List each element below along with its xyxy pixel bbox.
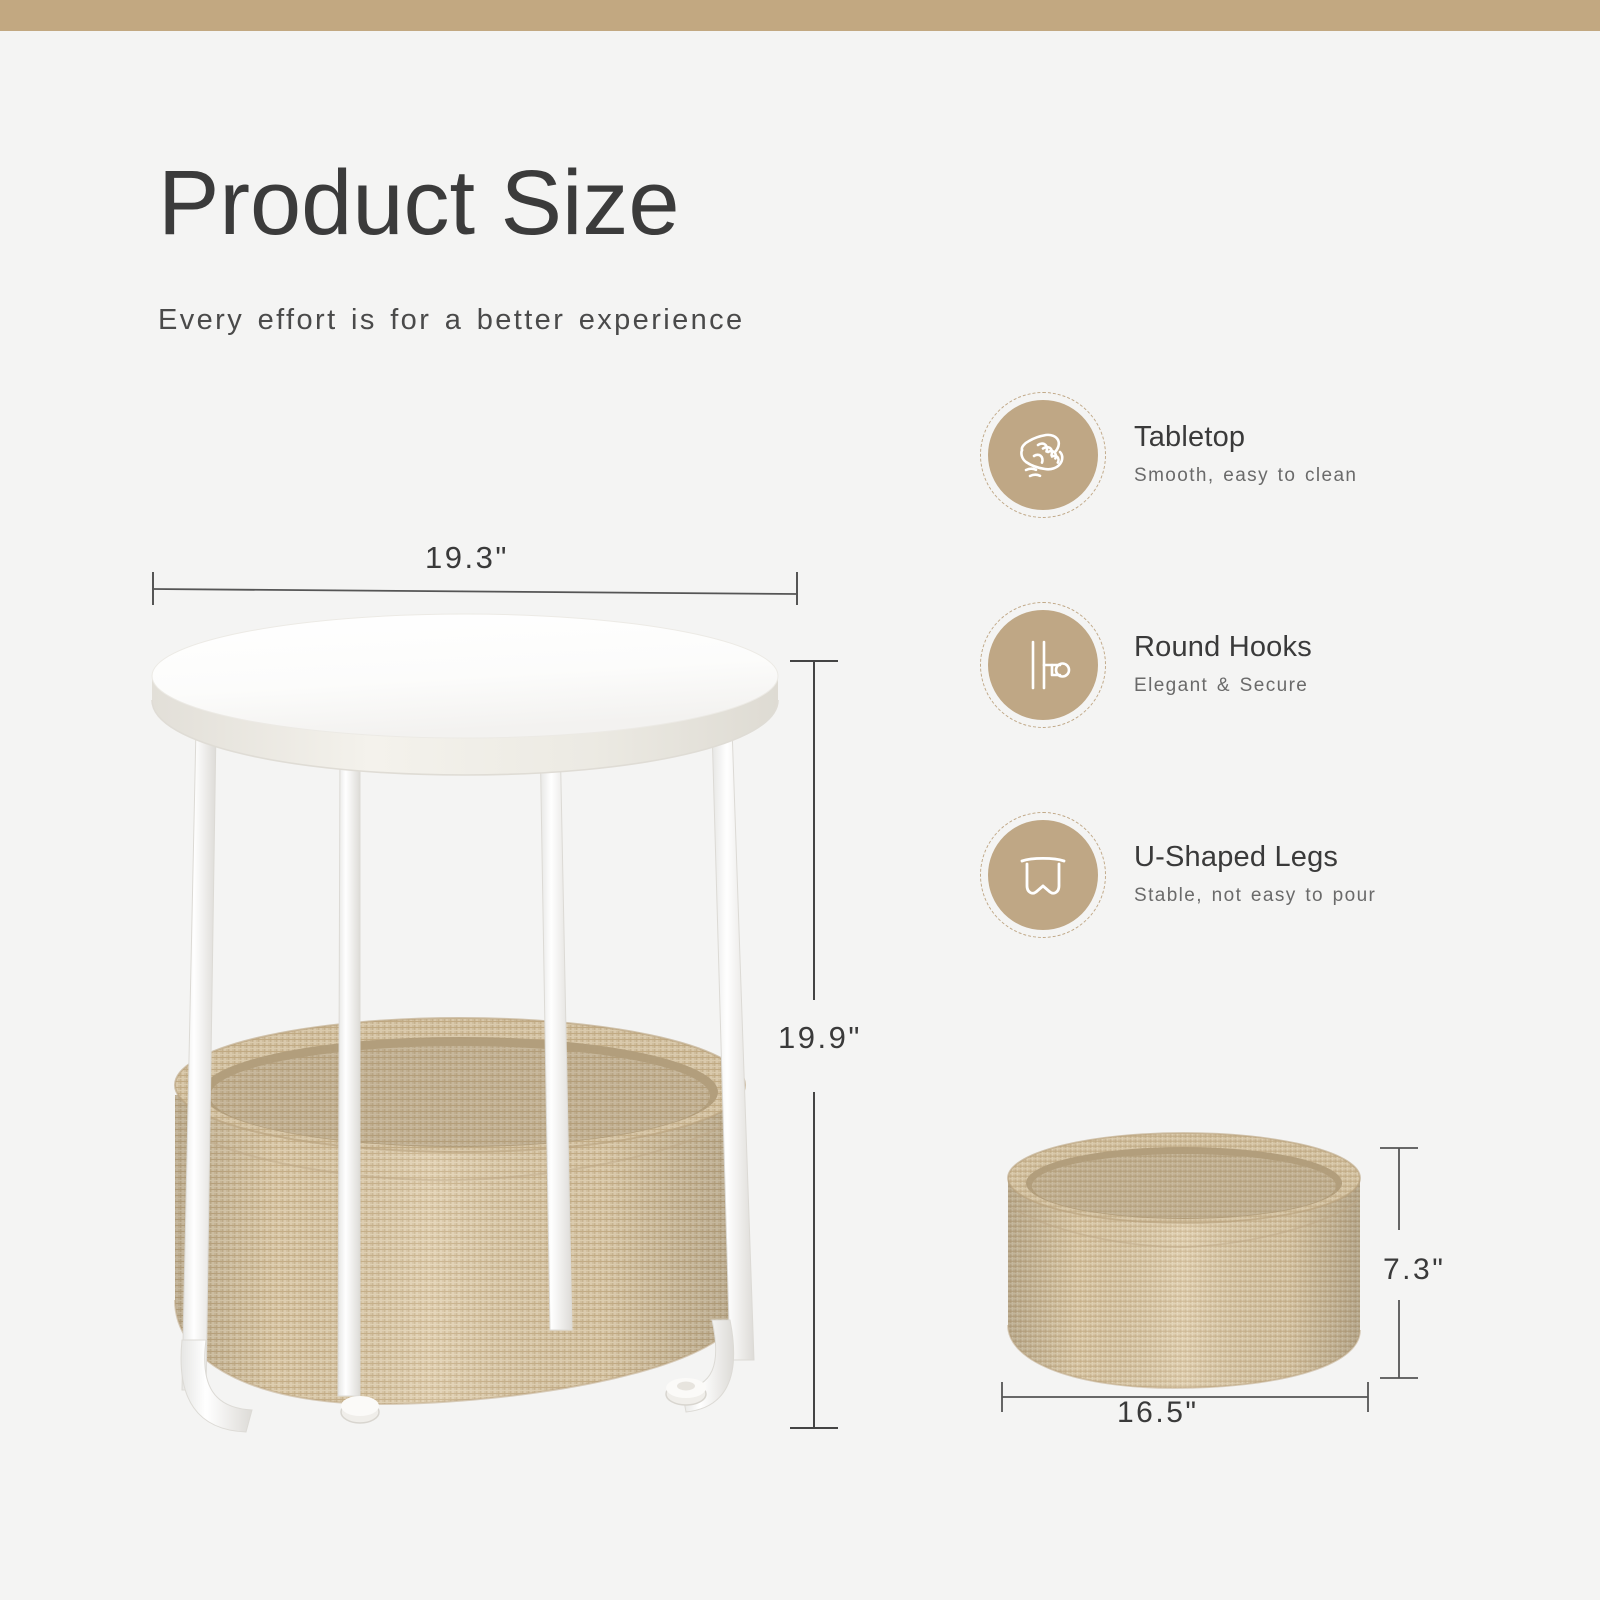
product-illustration-table <box>0 0 900 1600</box>
fabric-basket-detail <box>1008 1133 1360 1388</box>
feature-list: Tabletop Smooth, easy to clean Round Hoo… <box>980 390 1460 1020</box>
feature-description: Smooth, easy to clean <box>1134 465 1357 487</box>
hand-wiping-cloth-icon <box>988 400 1098 510</box>
feature-item-round-hooks: Round Hooks Elegant & Secure <box>980 600 1460 730</box>
u-shaped-legs-icon <box>988 820 1098 930</box>
fabric-basket-main <box>175 1018 745 1404</box>
dimension-label-basket-width: 16.5" <box>1117 1396 1199 1430</box>
feature-text-block: Tabletop Smooth, easy to clean <box>1134 419 1357 491</box>
feature-icon-wrapper <box>980 392 1106 518</box>
dimension-label-basket-height: 7.3" <box>1383 1253 1445 1287</box>
feature-icon-wrapper <box>980 602 1106 728</box>
tabletop-surface <box>152 614 778 775</box>
feature-text-block: Round Hooks Elegant & Secure <box>1134 629 1312 701</box>
dimension-label-table-width: 19.3" <box>425 540 509 576</box>
feature-title: Tabletop <box>1134 419 1357 455</box>
feature-description: Stable, not easy to pour <box>1134 885 1376 907</box>
feature-title: U-Shaped Legs <box>1134 839 1376 875</box>
round-hook-icon <box>988 610 1098 720</box>
feature-title: Round Hooks <box>1134 629 1312 665</box>
dimension-label-table-height: 19.9" <box>778 1020 862 1056</box>
dimension-line-table-width <box>153 572 797 605</box>
feature-description: Elegant & Secure <box>1134 675 1312 697</box>
feature-icon-wrapper <box>980 812 1106 938</box>
feature-item-u-shaped-legs: U-Shaped Legs Stable, not easy to pour <box>980 810 1460 940</box>
product-illustration-basket <box>960 1120 1480 1470</box>
feature-item-tabletop: Tabletop Smooth, easy to clean <box>980 390 1460 520</box>
feature-text-block: U-Shaped Legs Stable, not easy to pour <box>1134 839 1376 911</box>
